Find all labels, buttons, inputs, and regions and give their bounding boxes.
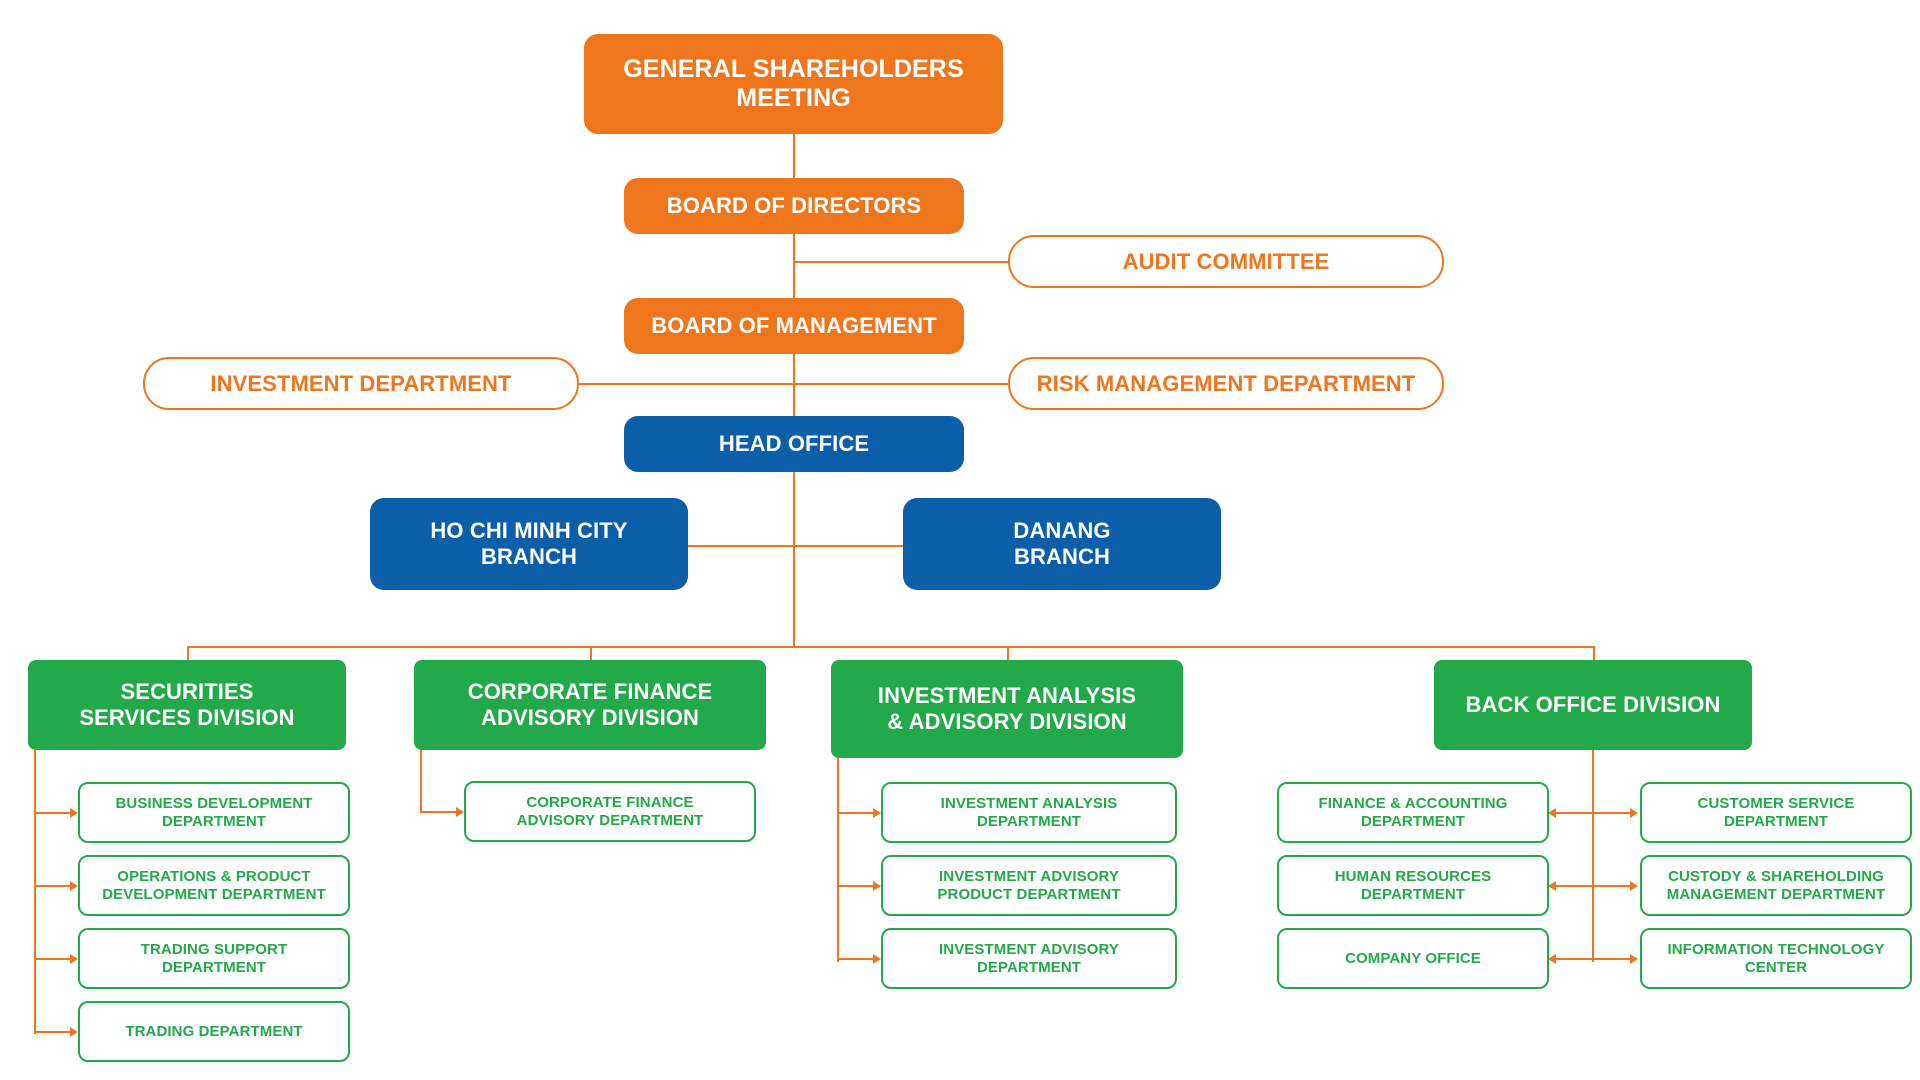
custody-shareholding-management-department-line-1: CUSTODY & SHAREHOLDING bbox=[1658, 868, 1894, 885]
connector-investment-dept-3 bbox=[837, 958, 873, 960]
node-operations-product-development-department[interactable]: OPERATIONS & PRODUCT DEVELOPMENT DEPARTM… bbox=[78, 855, 350, 916]
connector-bom-to-investment-department bbox=[579, 383, 794, 385]
audit-committee-label: AUDIT COMMITTEE bbox=[1113, 249, 1340, 275]
arrow-investment-dept-3-icon bbox=[873, 954, 881, 964]
arrow-securities-dept-3-icon bbox=[70, 954, 78, 964]
investment-advisory-product-department-line-2: PRODUCT DEPARTMENT bbox=[927, 886, 1130, 903]
arrow-back-office-left-dept-2-icon bbox=[1548, 881, 1556, 891]
company-office-label: COMPANY OFFICE bbox=[1335, 950, 1491, 967]
connector-back-office-left-dept-3 bbox=[1556, 958, 1594, 960]
arrow-back-office-right-dept-3-icon bbox=[1630, 954, 1638, 964]
arrow-back-office-left-dept-3-icon bbox=[1548, 954, 1556, 964]
arrow-back-office-right-dept-2-icon bbox=[1630, 881, 1638, 891]
node-risk-management-department[interactable]: RISK MANAGEMENT DEPARTMENT bbox=[1008, 357, 1444, 410]
connector-head-office-to-danang-branch bbox=[793, 545, 906, 547]
connector-bom-to-head-office bbox=[793, 354, 795, 416]
connector-head-office-trunk bbox=[793, 472, 795, 647]
node-ho-chi-minh-city-branch[interactable]: HO CHI MINH CITY BRANCH bbox=[370, 498, 688, 590]
finance-accounting-department-line-2: DEPARTMENT bbox=[1351, 813, 1475, 830]
corporate-finance-advisory-division-line-1: CORPORATE FINANCE bbox=[458, 679, 723, 705]
node-human-resources-department[interactable]: HUMAN RESOURCES DEPARTMENT bbox=[1277, 855, 1549, 916]
connector-bod-to-bom bbox=[793, 234, 795, 298]
connector-corporate-finance-dept-1 bbox=[420, 811, 456, 813]
back-office-division-label: BACK OFFICE DIVISION bbox=[1455, 692, 1730, 718]
danang-branch-line-1: DANANG bbox=[1003, 518, 1120, 544]
node-trading-support-department[interactable]: TRADING SUPPORT DEPARTMENT bbox=[78, 928, 350, 989]
connector-back-office-right-dept-3 bbox=[1592, 958, 1630, 960]
connector-investment-dept-1 bbox=[837, 812, 873, 814]
division-bus-bar bbox=[187, 646, 1593, 648]
node-securities-services-division[interactable]: SECURITIES SERVICES DIVISION bbox=[28, 660, 346, 750]
corporate-finance-advisory-division-spine bbox=[420, 750, 422, 812]
securities-services-division-spine bbox=[34, 750, 36, 1034]
board-of-management-label: BOARD OF MANAGEMENT bbox=[641, 313, 946, 339]
arrow-securities-dept-2-icon bbox=[70, 881, 78, 891]
connector-back-office-right-dept-1 bbox=[1592, 812, 1630, 814]
corporate-finance-advisory-division-line-2: ADVISORY DIVISION bbox=[471, 705, 709, 731]
arrow-corporate-finance-dept-1-icon bbox=[456, 807, 464, 817]
general-shareholders-meeting-line-2: MEETING bbox=[726, 84, 861, 113]
org-chart-canvas: GENERAL SHAREHOLDERS MEETING BOARD OF DI… bbox=[0, 0, 1920, 1080]
connector-securities-dept-2 bbox=[34, 885, 70, 887]
connector-back-office-right-dept-2 bbox=[1592, 885, 1630, 887]
information-technology-center-line-2: CENTER bbox=[1735, 959, 1817, 976]
investment-department-label: INVESTMENT DEPARTMENT bbox=[200, 371, 521, 397]
investment-advisory-product-department-line-1: INVESTMENT ADVISORY bbox=[929, 868, 1129, 885]
node-investment-advisory-product-department[interactable]: INVESTMENT ADVISORY PRODUCT DEPARTMENT bbox=[881, 855, 1177, 916]
connector-investment-dept-2 bbox=[837, 885, 873, 887]
customer-service-department-line-1: CUSTOMER SERVICE bbox=[1688, 795, 1865, 812]
arrow-back-office-right-dept-1-icon bbox=[1630, 808, 1638, 818]
node-business-development-department[interactable]: BUSINESS DEVELOPMENT DEPARTMENT bbox=[78, 782, 350, 843]
node-audit-committee[interactable]: AUDIT COMMITTEE bbox=[1008, 235, 1444, 288]
connector-back-office-left-dept-2 bbox=[1556, 885, 1594, 887]
node-finance-accounting-department[interactable]: FINANCE & ACCOUNTING DEPARTMENT bbox=[1277, 782, 1549, 843]
node-back-office-division[interactable]: BACK OFFICE DIVISION bbox=[1434, 660, 1752, 750]
hcmc-branch-line-2: BRANCH bbox=[471, 544, 587, 570]
business-development-department-line-1: BUSINESS DEVELOPMENT bbox=[105, 795, 322, 812]
securities-services-division-line-1: SECURITIES bbox=[110, 679, 263, 705]
node-danang-branch[interactable]: DANANG BRANCH bbox=[903, 498, 1221, 590]
business-development-department-line-2: DEPARTMENT bbox=[152, 813, 276, 830]
trading-support-department-line-2: DEPARTMENT bbox=[152, 959, 276, 976]
node-board-of-directors[interactable]: BOARD OF DIRECTORS bbox=[624, 178, 964, 234]
back-office-division-spine bbox=[1592, 750, 1594, 962]
trading-support-department-line-1: TRADING SUPPORT bbox=[131, 941, 298, 958]
hcmc-branch-line-1: HO CHI MINH CITY bbox=[420, 518, 637, 544]
custody-shareholding-management-department-line-2: MANAGEMENT DEPARTMENT bbox=[1657, 886, 1895, 903]
arrow-securities-dept-4-icon bbox=[70, 1027, 78, 1037]
operations-product-development-department-line-2: DEVELOPMENT DEPARTMENT bbox=[92, 886, 336, 903]
investment-analysis-advisory-division-line-2: & ADVISORY DIVISION bbox=[877, 709, 1136, 735]
arrow-securities-dept-1-icon bbox=[70, 808, 78, 818]
trading-department-label: TRADING DEPARTMENT bbox=[115, 1023, 312, 1040]
node-company-office[interactable]: COMPANY OFFICE bbox=[1277, 928, 1549, 989]
node-investment-department[interactable]: INVESTMENT DEPARTMENT bbox=[143, 357, 579, 410]
node-investment-analysis-advisory-division[interactable]: INVESTMENT ANALYSIS & ADVISORY DIVISION bbox=[831, 660, 1183, 758]
connector-back-office-left-dept-1 bbox=[1556, 812, 1594, 814]
node-information-technology-center[interactable]: INFORMATION TECHNOLOGY CENTER bbox=[1640, 928, 1912, 989]
corporate-finance-advisory-department-line-2: ADVISORY DEPARTMENT bbox=[507, 812, 714, 829]
securities-services-division-line-2: SERVICES DIVISION bbox=[69, 705, 304, 731]
arrow-investment-dept-2-icon bbox=[873, 881, 881, 891]
connector-bod-to-audit-committee bbox=[793, 261, 1008, 263]
node-board-of-management[interactable]: BOARD OF MANAGEMENT bbox=[624, 298, 964, 354]
connector-securities-dept-3 bbox=[34, 958, 70, 960]
investment-advisory-department-line-1: INVESTMENT ADVISORY bbox=[929, 941, 1129, 958]
investment-advisory-department-line-2: DEPARTMENT bbox=[967, 959, 1091, 976]
general-shareholders-meeting-line-1: GENERAL SHAREHOLDERS bbox=[613, 55, 973, 84]
node-head-office[interactable]: HEAD OFFICE bbox=[624, 416, 964, 472]
investment-analysis-advisory-division-spine bbox=[837, 758, 839, 962]
node-trading-department[interactable]: TRADING DEPARTMENT bbox=[78, 1001, 350, 1062]
information-technology-center-line-1: INFORMATION TECHNOLOGY bbox=[1658, 941, 1895, 958]
human-resources-department-line-1: HUMAN RESOURCES bbox=[1325, 868, 1502, 885]
connector-securities-dept-4 bbox=[34, 1031, 70, 1033]
arrow-back-office-left-dept-1-icon bbox=[1548, 808, 1556, 818]
node-customer-service-department[interactable]: CUSTOMER SERVICE DEPARTMENT bbox=[1640, 782, 1912, 843]
node-investment-advisory-department[interactable]: INVESTMENT ADVISORY DEPARTMENT bbox=[881, 928, 1177, 989]
human-resources-department-line-2: DEPARTMENT bbox=[1351, 886, 1475, 903]
arrow-investment-dept-1-icon bbox=[873, 808, 881, 818]
node-general-shareholders-meeting[interactable]: GENERAL SHAREHOLDERS MEETING bbox=[584, 34, 1003, 134]
board-of-directors-label: BOARD OF DIRECTORS bbox=[657, 193, 931, 219]
finance-accounting-department-line-1: FINANCE & ACCOUNTING bbox=[1309, 795, 1518, 812]
investment-analysis-department-line-1: INVESTMENT ANALYSIS bbox=[931, 795, 1128, 812]
investment-analysis-department-line-2: DEPARTMENT bbox=[967, 813, 1091, 830]
node-investment-analysis-department[interactable]: INVESTMENT ANALYSIS DEPARTMENT bbox=[881, 782, 1177, 843]
head-office-label: HEAD OFFICE bbox=[709, 431, 879, 457]
connector-bom-to-risk-management-department bbox=[793, 383, 1008, 385]
investment-analysis-advisory-division-line-1: INVESTMENT ANALYSIS bbox=[868, 683, 1146, 709]
node-corporate-finance-advisory-division[interactable]: CORPORATE FINANCE ADVISORY DIVISION bbox=[414, 660, 766, 750]
node-corporate-finance-advisory-department[interactable]: CORPORATE FINANCE ADVISORY DEPARTMENT bbox=[464, 781, 756, 842]
node-custody-shareholding-management-department[interactable]: CUSTODY & SHAREHOLDING MANAGEMENT DEPART… bbox=[1640, 855, 1912, 916]
danang-branch-line-2: BRANCH bbox=[1004, 544, 1120, 570]
operations-product-development-department-line-1: OPERATIONS & PRODUCT bbox=[107, 868, 320, 885]
corporate-finance-advisory-department-line-1: CORPORATE FINANCE bbox=[516, 794, 703, 811]
connector-gsm-to-bod bbox=[793, 134, 795, 178]
customer-service-department-line-2: DEPARTMENT bbox=[1714, 813, 1838, 830]
risk-management-department-label: RISK MANAGEMENT DEPARTMENT bbox=[1027, 371, 1426, 397]
connector-securities-dept-1 bbox=[34, 812, 70, 814]
